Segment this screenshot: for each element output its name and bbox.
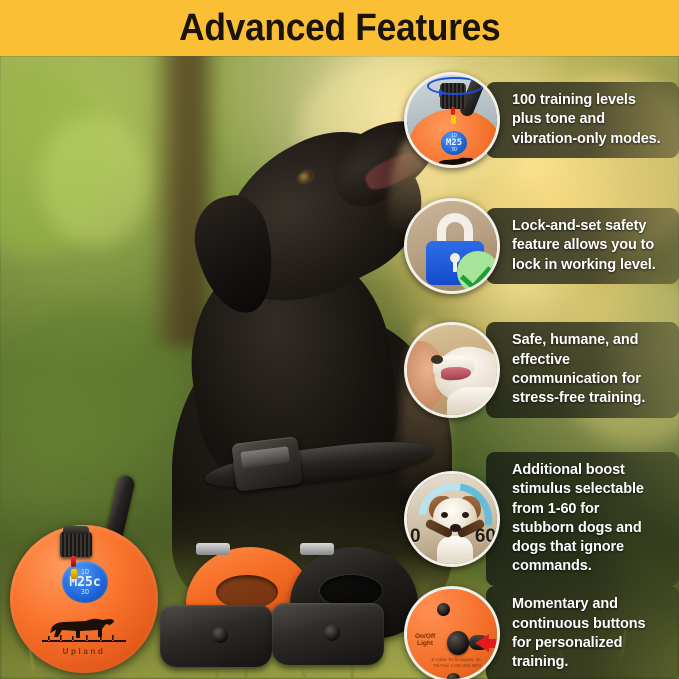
feature-row-safe-humane: Safe, humane, and effective communicatio…: [404, 322, 679, 418]
pointing-dog-silhouette-icon: [40, 613, 128, 645]
remote-dial-knob: [60, 531, 92, 557]
scene-photo: 1D M25c 3D Upland: [0, 56, 679, 679]
feature-text: Momentary and continuous buttons for per…: [486, 586, 679, 679]
check-mark-icon: [457, 251, 499, 293]
feature-text: Lock-and-set safety feature allows you t…: [486, 208, 679, 284]
page-title: Advanced Features: [179, 7, 500, 50]
collar-receiver-box-orange: [160, 605, 272, 667]
remote-lcd-display: 1D M25c 3D: [62, 561, 108, 603]
boost-gauge-icon: 0 60: [404, 471, 500, 567]
feature-row-lock-and-set: Lock-and-set safety feature allows you t…: [404, 198, 679, 294]
product-group: 1D M25c 3D Upland: [0, 459, 400, 679]
icon-lcd-bot: 3D: [451, 148, 457, 153]
header-band: Advanced Features: [0, 0, 679, 56]
gauge-max-label: 60: [475, 526, 496, 548]
remote-buttons-arrow-icon: On/OffLight E-Collar Technologies, Inc.T…: [404, 586, 500, 679]
feature-row-boost-stimulus: 0 60 Additional boost stimulus selectabl…: [404, 452, 679, 586]
lcd-bottom-value: 3D: [81, 589, 89, 596]
fine-print: E-Collar Technologies, Inc.Toll Free 1-8…: [425, 657, 489, 669]
feature-poster: Advanced Features: [0, 0, 679, 679]
feature-text: Additional boost stimulus selectable fro…: [486, 452, 679, 586]
collar-clip: [196, 543, 230, 555]
momentary-button: [447, 631, 469, 655]
collar-clip: [300, 543, 334, 555]
feature-text: Safe, humane, and effective communicatio…: [486, 322, 679, 417]
remote-led-red: [71, 556, 76, 567]
feature-row-training-levels: 1D M25 3D 100 training levels plus tone …: [404, 72, 679, 168]
padlock-check-icon: [404, 198, 500, 294]
rotation-arrow-icon: [427, 77, 483, 95]
feature-row-momentary-continuous: On/OffLight E-Collar Technologies, Inc.T…: [404, 586, 679, 679]
gauge-min-label: 0: [410, 526, 421, 548]
remote-dial-rotation-icon: 1D M25 3D: [404, 72, 500, 168]
feature-text: 100 training levels plus tone and vibrat…: [486, 82, 679, 158]
button-label: On/OffLight: [415, 633, 435, 648]
remote-brand-label: Upland: [10, 647, 158, 656]
collar-receiver-box-black: [272, 603, 384, 665]
pointing-dog-silhouette-icon: [433, 155, 479, 168]
remote-led-yellow: [71, 569, 77, 579]
hand-and-dog-icon: [404, 322, 500, 418]
